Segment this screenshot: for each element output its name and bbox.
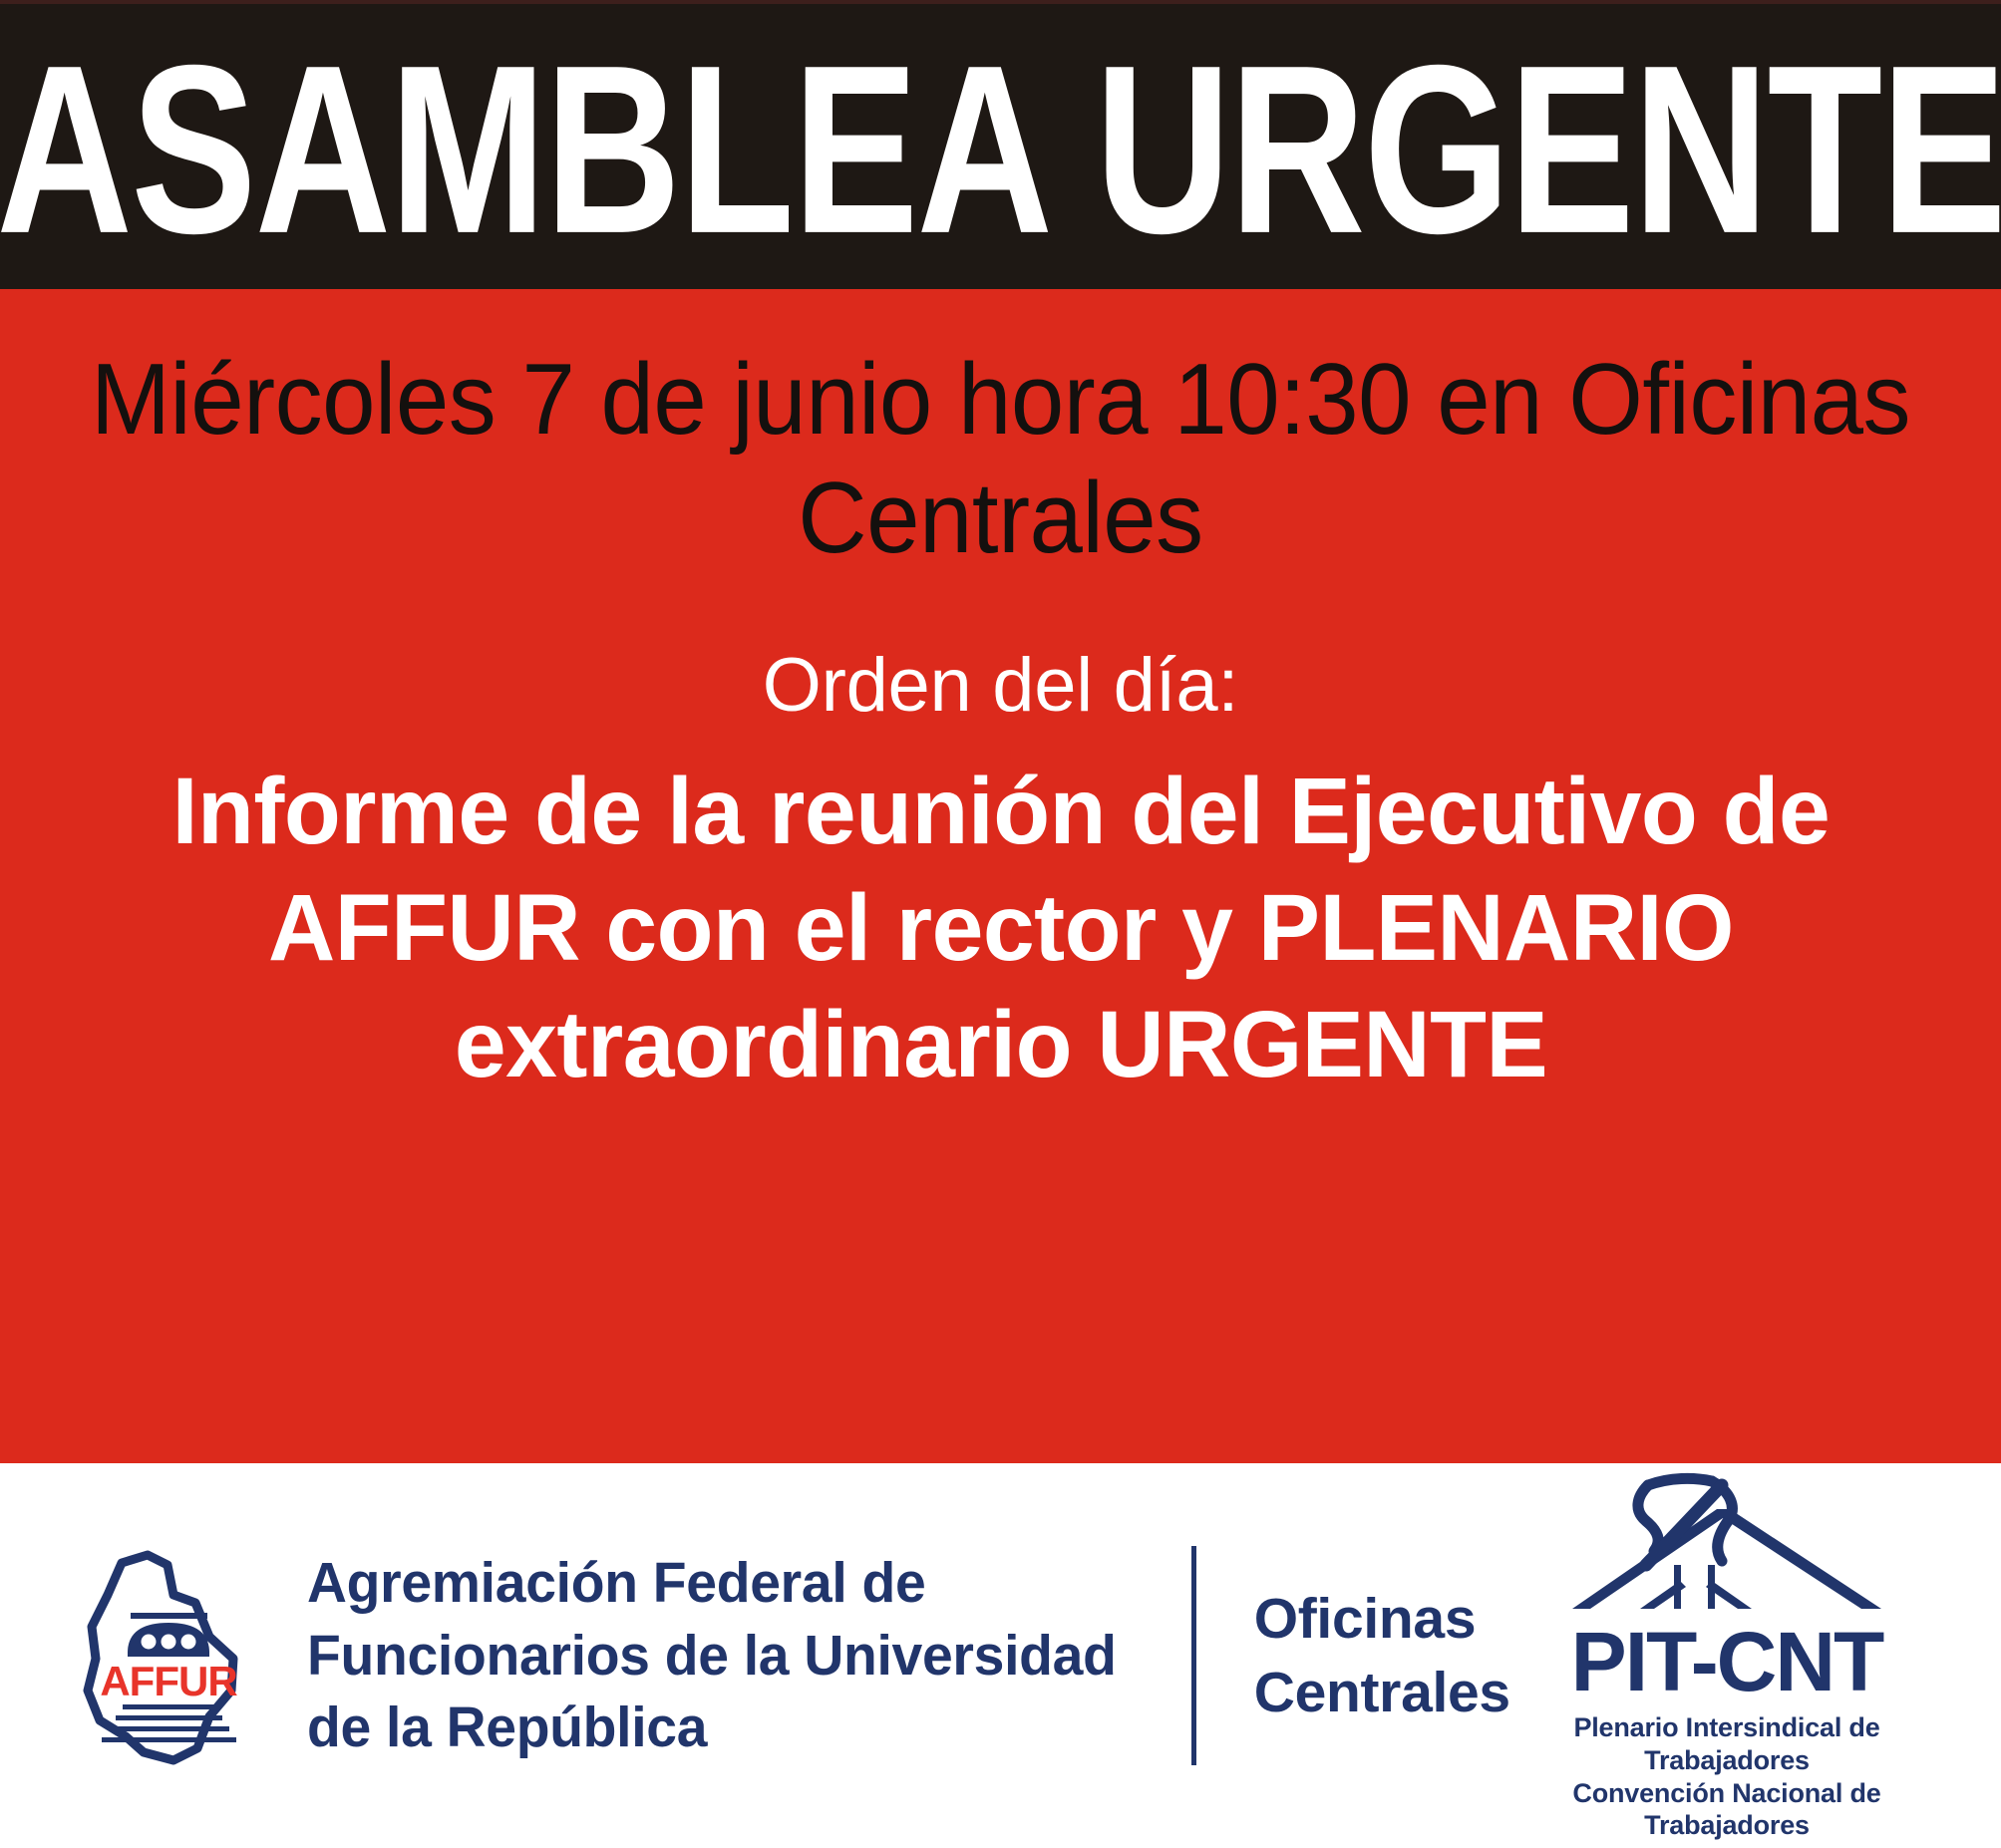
offices-label: Oficinas Centrales xyxy=(1254,1582,1510,1729)
affur-wordmark: AFFUR xyxy=(100,1658,237,1704)
affur-branding: AFFUR Agremiación Federal de Funcionario… xyxy=(70,1541,1142,1770)
pitcnt-knot-icon xyxy=(1562,1469,1891,1624)
agenda-label: Orden del día: xyxy=(763,644,1238,728)
main-red-panel: Miércoles 7 de junio hora 10:30 en Ofici… xyxy=(0,289,2001,1463)
pitcnt-wordmark: PIT-CNT xyxy=(1571,1620,1883,1703)
poster-root: ASAMBLEA URGENTE Miércoles 7 de junio ho… xyxy=(0,0,2001,1848)
affur-logo-icon: AFFUR xyxy=(70,1541,269,1770)
meeting-datetime-location: Miércoles 7 de junio hora 10:30 en Ofici… xyxy=(50,341,1951,578)
agenda-body-text: Informe de la reunión del Ejecutivo de A… xyxy=(73,754,1929,1103)
header-band: ASAMBLEA URGENTE xyxy=(0,4,2001,289)
footer-band: AFFUR Agremiación Federal de Funcionario… xyxy=(0,1463,2001,1848)
pitcnt-subtitle: Plenario Intersindical de Trabajadores C… xyxy=(1512,1711,1941,1843)
affur-org-name: Agremiación Federal de Funcionarios de l… xyxy=(307,1547,1117,1765)
page-title: ASAMBLEA URGENTE xyxy=(0,36,2001,264)
footer-vertical-divider xyxy=(1191,1546,1196,1765)
pitcnt-branding: PIT-CNT Plenario Intersindical de Trabaj… xyxy=(1512,1469,1941,1843)
